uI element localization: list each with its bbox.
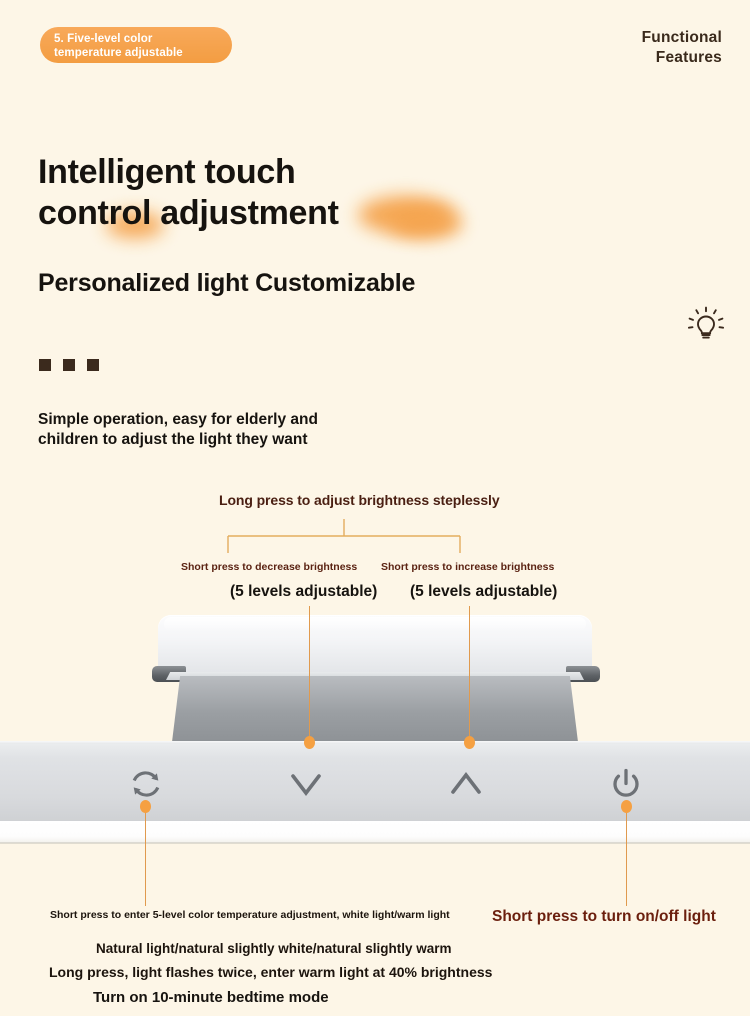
leader-line-cycle <box>145 806 146 906</box>
note-power-toggle: Short press to turn on/off light <box>492 906 728 927</box>
hero-subheading: Personalized light Customizable <box>38 234 658 298</box>
note-color-temperature: Short press to enter 5-level color tempe… <box>50 908 480 922</box>
cycle-arrows-icon[interactable] <box>125 763 167 805</box>
hero-heading: Intelligent touch control adjustment <box>38 152 658 234</box>
page-title-line1: Functional <box>642 28 722 48</box>
chevron-down-icon[interactable] <box>285 763 327 805</box>
chevron-up-icon[interactable] <box>445 763 487 805</box>
lamp-light-strip <box>0 821 750 843</box>
lamp-housing <box>158 615 592 677</box>
callout-levels-left: (5 levels adjustable) <box>230 583 377 601</box>
power-icon[interactable] <box>605 763 647 805</box>
hero-block: Intelligent touch control adjustment Per… <box>38 152 658 298</box>
callout-long-press: Long press to adjust brightness stepless… <box>219 492 500 508</box>
section-badge-line1: 5. Five-level color <box>54 32 218 46</box>
leader-dot-decrease <box>304 736 315 749</box>
lamp-light-strip-shadow <box>0 842 750 844</box>
lamp-shade <box>172 676 578 742</box>
note-long-press-warm: Long press, light flashes twice, enter w… <box>49 964 492 980</box>
leader-dot-cycle <box>140 800 151 813</box>
leader-dot-increase <box>464 736 475 749</box>
support-text: Simple operation, easy for elderly and c… <box>38 410 458 450</box>
square-3 <box>87 359 99 371</box>
lamp-product-image <box>0 600 750 900</box>
support-text-line2: children to adjust the light they want <box>38 430 458 450</box>
note-natural-light-modes: Natural light/natural slightly white/nat… <box>96 941 452 956</box>
hero-heading-line2: control adjustment <box>38 193 658 234</box>
callout-levels-right: (5 levels adjustable) <box>410 583 557 601</box>
leader-dot-power <box>621 800 632 813</box>
section-badge-line2: temperature adjustable <box>54 46 218 60</box>
support-text-line1: Simple operation, easy for elderly and <box>38 410 458 430</box>
product-feature-page: 5. Five-level color temperature adjustab… <box>0 0 750 1016</box>
callout-decrease-brightness: Short press to decrease brightness <box>181 561 357 573</box>
leader-line-increase <box>469 606 470 743</box>
leader-line-power <box>626 806 627 906</box>
page-title: Functional Features <box>642 28 722 68</box>
callout-increase-brightness: Short press to increase brightness <box>381 561 554 573</box>
lightbulb-icon <box>684 302 728 346</box>
section-badge: 5. Five-level color temperature adjustab… <box>40 27 232 63</box>
callout-bracket <box>224 519 464 555</box>
note-bedtime-mode: Turn on 10-minute bedtime mode <box>93 989 329 1006</box>
decorative-squares <box>39 359 99 371</box>
leader-line-decrease <box>309 606 310 743</box>
page-title-line2: Features <box>642 48 722 68</box>
square-1 <box>39 359 51 371</box>
hero-heading-line1: Intelligent touch <box>38 152 658 193</box>
square-2 <box>63 359 75 371</box>
